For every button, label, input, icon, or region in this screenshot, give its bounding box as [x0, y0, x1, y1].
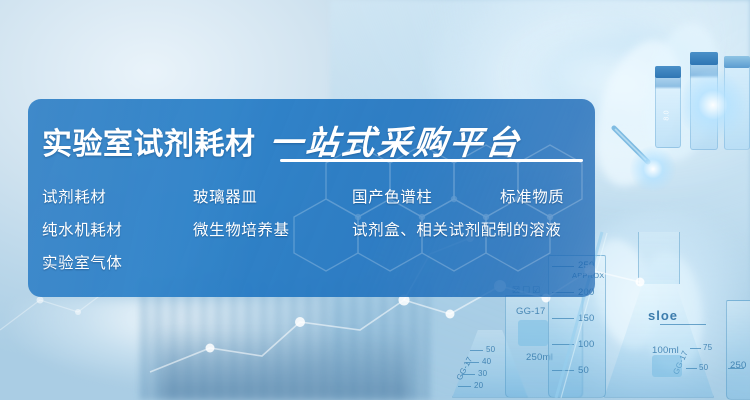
category-item[interactable]: 试剂耗材	[42, 185, 193, 207]
category-list: 试剂耗材 玻璃器皿 国产色谱柱 标准物质 纯水机耗材 微生物培养基 试剂盒、相关…	[42, 179, 587, 278]
laboratory-reagent-banner: 50 40 30 20 GG-17 GG-17 250ml ☒☐☑ 250 AP…	[0, 0, 750, 400]
promo-panel: 实验室试剂耗材 一站式采购平台 试剂耗材 玻璃器皿 国产色谱柱 标准物质 纯水机…	[28, 99, 595, 297]
category-item[interactable]: 纯水机耗材	[42, 218, 193, 240]
banner-title: 实验室试剂耗材 一站式采购平台	[42, 116, 522, 164]
light-glow	[630, 146, 676, 192]
category-row: 试剂耗材 玻璃器皿 国产色谱柱 标准物质	[42, 179, 587, 212]
title-main-text: 实验室试剂耗材	[42, 119, 256, 163]
category-row: 实验室气体	[42, 245, 587, 278]
title-underline	[280, 159, 583, 162]
title-script-text: 一站式采购平台	[267, 116, 524, 164]
category-item[interactable]: 标准物质	[500, 185, 564, 207]
category-item[interactable]: 国产色谱柱	[352, 185, 500, 207]
category-row: 纯水机耗材 微生物培养基 试剂盒、相关试剂配制的溶液	[42, 212, 587, 245]
category-item[interactable]: 微生物培养基	[193, 218, 352, 240]
category-item[interactable]: 试剂盒、相关试剂配制的溶液	[352, 218, 561, 240]
category-item[interactable]: 实验室气体	[42, 251, 193, 273]
category-item[interactable]: 玻璃器皿	[193, 185, 352, 207]
